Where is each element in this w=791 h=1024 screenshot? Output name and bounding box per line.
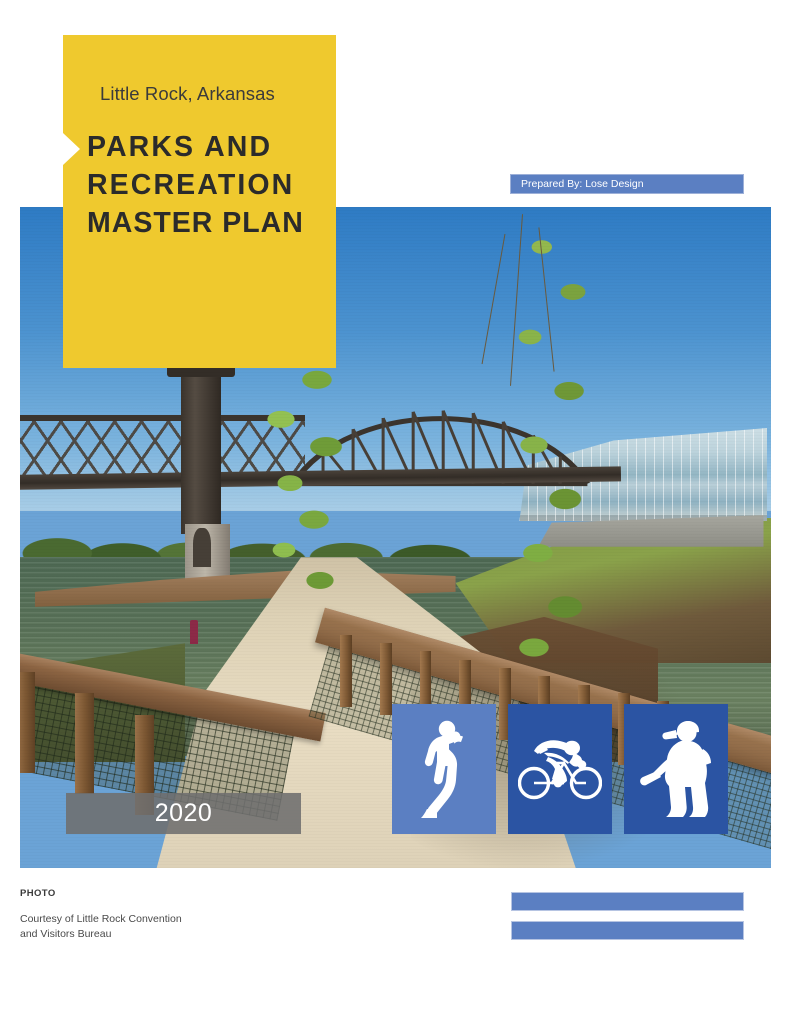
page-title: PARKS AND RECREATION MASTER PLAN	[87, 128, 327, 242]
cover-page: Little Rock, Arkansas PARKS AND RECREATI…	[0, 0, 791, 1024]
page-title-line-2: RECREATION	[87, 166, 327, 204]
tile-baseball	[624, 704, 728, 834]
location-subtitle: Little Rock, Arkansas	[100, 83, 275, 105]
cyclist-icon	[518, 735, 602, 803]
left-railing-post	[20, 672, 35, 772]
photo-credit-body: Courtesy of Little Rock Convention and V…	[20, 912, 182, 941]
prepared-by-banner: Prepared By: Lose Design	[510, 174, 744, 194]
year-label: 2020	[155, 799, 213, 828]
tile-basketball	[392, 704, 496, 834]
bridge-pier	[185, 524, 230, 580]
prepared-by-label: Prepared By: Lose Design	[521, 178, 644, 190]
footer-accent-bars	[511, 892, 744, 940]
right-railing-post	[340, 635, 352, 707]
baseball-batter-icon	[635, 719, 717, 819]
footer-bar-1	[511, 892, 744, 911]
tile-cycling	[508, 704, 612, 834]
page-title-line-1: PARKS AND	[87, 128, 327, 166]
photo-credit-line-2: and Visitors Bureau	[20, 927, 182, 942]
photo-credit-label: PHOTO	[20, 888, 56, 899]
year-badge: 2020	[66, 793, 301, 834]
left-railing-post	[75, 693, 94, 793]
right-railing-post	[380, 643, 392, 715]
foreground-tree-right	[456, 220, 651, 669]
page-title-line-3: MASTER PLAN	[87, 204, 327, 242]
activity-icon-tiles	[392, 704, 728, 834]
footer-bar-2	[511, 921, 744, 940]
basketball-player-icon	[413, 717, 475, 821]
lift-bridge-tower	[181, 376, 220, 535]
photo-credit-line-1: Courtesy of Little Rock Convention	[20, 912, 182, 927]
